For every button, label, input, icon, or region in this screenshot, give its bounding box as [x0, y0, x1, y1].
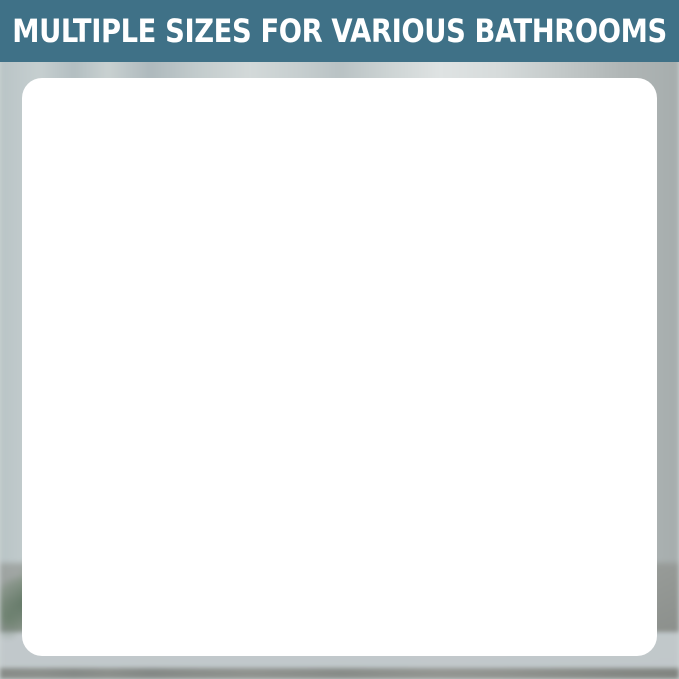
- page-title: MULTIPLE SIZES FOR VARIOUS BATHROOMS: [12, 12, 667, 50]
- infographic-root: MULTIPLE SIZES FOR VARIOUS BATHROOMS: [0, 0, 679, 679]
- title-bar: MULTIPLE SIZES FOR VARIOUS BATHROOMS: [0, 0, 679, 62]
- content-card: [22, 78, 657, 656]
